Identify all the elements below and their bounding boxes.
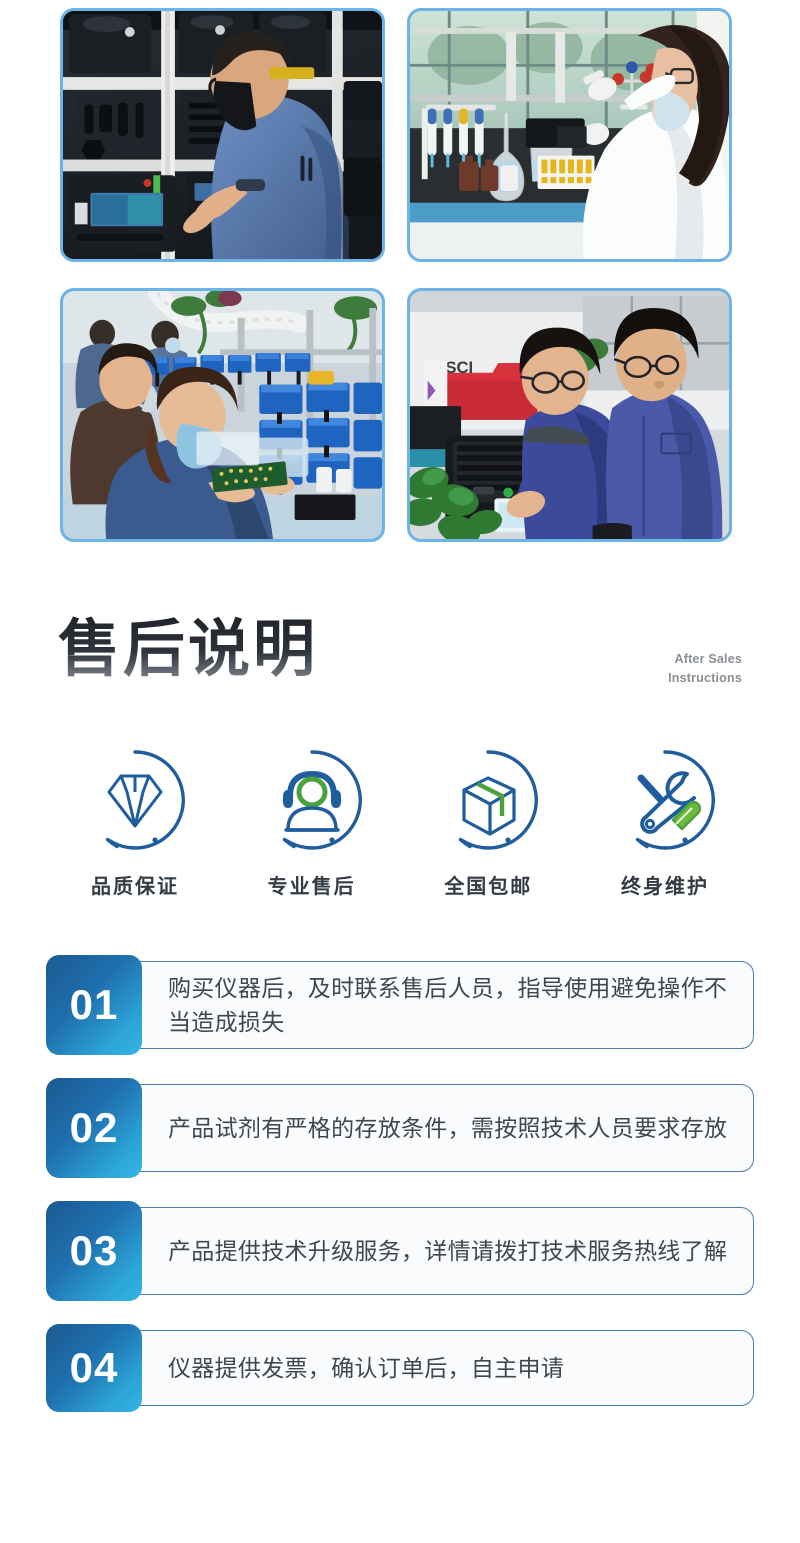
note-number-badge: 01	[46, 955, 142, 1055]
photo-laboratory-technician	[407, 8, 732, 262]
feature-free-shipping: 全国包邮	[413, 748, 563, 913]
photo-2-image	[410, 11, 729, 259]
photo-1-image	[63, 11, 382, 259]
factory-photo-gallery: SCI	[0, 0, 800, 552]
note-text: 产品试剂有严格的存放条件，需按照技术人员要求存放	[142, 1078, 754, 1178]
note-number-badge: 04	[46, 1324, 142, 1412]
after-sales-page: SCI	[0, 0, 800, 1543]
note-item-03: 03 产品提供技术升级服务，详情请拨打技术服务热线了解	[46, 1201, 754, 1301]
feature-icon-row: 品质保证 专业售后	[60, 748, 740, 913]
feature-quality-guarantee: 品质保证	[60, 748, 210, 913]
note-number-badge: 03	[46, 1201, 142, 1301]
page-title: 售后说明	[58, 616, 318, 681]
package-box-icon	[436, 748, 540, 852]
feature-label-support: 专业售后	[268, 870, 356, 899]
svg-text:SCI: SCI	[445, 358, 473, 377]
note-text: 购买仪器后，及时联系售后人员，指导使用避免操作不当造成损失	[142, 955, 754, 1055]
photo-assembly-line-workers	[60, 288, 385, 542]
feature-lifetime-maintenance: 终身维护	[590, 748, 740, 913]
photo-3-image	[63, 291, 382, 539]
note-item-01: 01 购买仪器后，及时联系售后人员，指导使用避免操作不当造成损失	[46, 955, 754, 1055]
page-title-english-line1: After Sales	[668, 650, 742, 669]
photo-warehouse-shelf-technician	[60, 8, 385, 262]
photo-engineers-testing-instrument: SCI	[407, 288, 732, 542]
feature-label-quality: 品质保证	[91, 870, 179, 899]
note-number-badge: 02	[46, 1078, 142, 1178]
page-title-english: After Sales Instructions	[668, 650, 742, 689]
feature-professional-support: 专业售后	[237, 748, 387, 913]
section-title-block: 售后说明 After Sales Instructions	[0, 600, 800, 720]
note-text: 仪器提供发票，确认订单后，自主申请	[142, 1324, 754, 1412]
diamond-icon	[83, 748, 187, 852]
headset-support-icon	[260, 748, 364, 852]
note-item-04: 04 仪器提供发票，确认订单后，自主申请	[46, 1324, 754, 1412]
feature-label-maintenance: 终身维护	[621, 870, 709, 899]
page-title-english-line2: Instructions	[668, 669, 742, 688]
wrench-screwdriver-icon	[613, 748, 717, 852]
feature-label-shipping: 全国包邮	[444, 870, 532, 899]
photo-4-image: SCI	[410, 291, 729, 539]
after-sales-notes-list: 01 购买仪器后，及时联系售后人员，指导使用避免操作不当造成损失 02 产品试剂…	[46, 955, 754, 1435]
note-item-02: 02 产品试剂有严格的存放条件，需按照技术人员要求存放	[46, 1078, 754, 1178]
note-text: 产品提供技术升级服务，详情请拨打技术服务热线了解	[142, 1201, 754, 1301]
